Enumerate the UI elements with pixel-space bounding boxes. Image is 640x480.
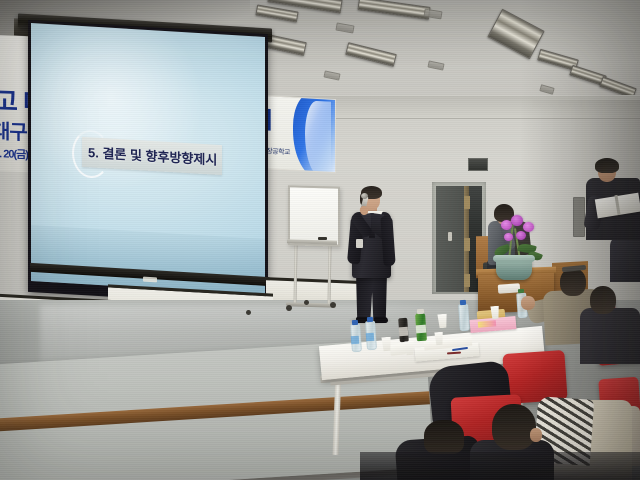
attendee-hand: [521, 296, 535, 310]
door-hinge-icon: [464, 196, 470, 209]
whiteboard-marker-icon[interactable]: [318, 237, 327, 240]
bottle-cap-icon: [417, 309, 424, 314]
attendee-front-dark-head: [424, 420, 464, 454]
orchid-flower: [516, 231, 526, 240]
foreground-shadow: [360, 452, 640, 480]
bottle-cap-icon: [352, 320, 358, 325]
photo-scene: 고 대 대구 · 1. 20(금) 1 표회 표회 대학교 현장공학교 5. 결…: [0, 0, 640, 480]
banner-wave-highlight: [305, 100, 331, 173]
attendee-rear-reading-hair: [595, 158, 619, 173]
caster-wheel-icon: [330, 302, 336, 308]
screen-pull-handle-icon[interactable]: [143, 277, 157, 283]
bottle-label: [351, 336, 360, 345]
water-bottle: [458, 304, 470, 332]
napkin: [389, 343, 406, 356]
wall-panel-icon: [573, 197, 585, 237]
presenter-shoe: [374, 317, 388, 323]
orchid-flower: [504, 233, 513, 241]
bottle-label: [366, 333, 375, 342]
flower-pot-rim: [493, 255, 535, 262]
wall-speaker-icon: [468, 158, 488, 171]
attendee-dark-coat-body: [580, 308, 640, 364]
bottle-label: [416, 325, 427, 334]
attendee-foreground-head: [492, 404, 536, 450]
bottle-cap-icon: [367, 317, 373, 322]
attendee-foreground-ear: [530, 428, 542, 442]
presenter-name-badge: [356, 239, 363, 248]
orchid-flower: [523, 222, 534, 232]
door-hinge-icon: [464, 274, 470, 287]
mobile-whiteboard: [288, 185, 340, 246]
caster-wheel-icon: [286, 305, 292, 311]
microphone-head-icon: [361, 193, 368, 199]
bottle-label: [399, 327, 409, 337]
bottle-cap-icon: [518, 289, 524, 293]
bottle-cap-icon: [460, 300, 466, 305]
caster-wheel-icon: [246, 310, 251, 315]
projector-glow: [31, 23, 211, 204]
attendee-rear-silhouette: [610, 236, 640, 282]
orchid-flower: [511, 215, 523, 226]
attendee-beige-coat-head: [560, 268, 586, 296]
attendee-dark-coat-head: [590, 286, 616, 314]
door-hinge-icon: [464, 238, 470, 251]
door-handle-icon[interactable]: [448, 232, 452, 241]
table-bowl: [498, 283, 521, 294]
caster-wheel-icon: [304, 300, 309, 305]
